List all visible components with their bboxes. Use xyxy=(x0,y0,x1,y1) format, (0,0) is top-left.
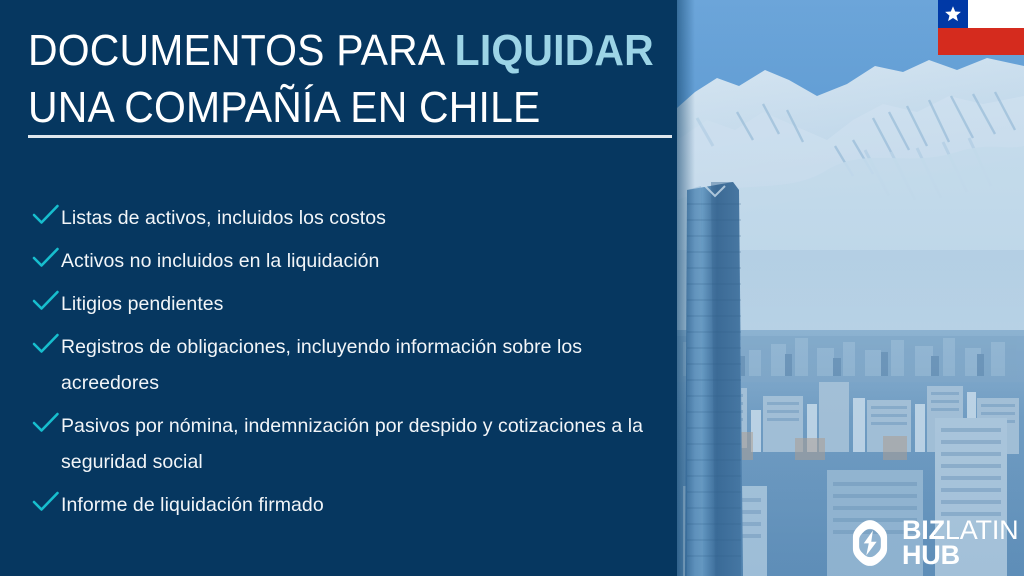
check-icon xyxy=(31,202,61,228)
check-icon xyxy=(31,331,61,357)
bizlatinhub-logo: BIZLATIN HUB xyxy=(845,514,1015,572)
list-item-label: Litigios pendientes xyxy=(61,286,651,322)
list-item: Registros de obligaciones, incluyendo in… xyxy=(31,329,651,401)
list-item: Activos no incluidos en la liquidación xyxy=(31,243,651,279)
flag-red-band xyxy=(938,28,1024,56)
title-prefix: DOCUMENTOS PARA xyxy=(28,26,455,75)
list-item: Listas de activos, incluidos los costos xyxy=(31,200,651,236)
list-item-label: Informe de liquidación firmado xyxy=(61,487,651,523)
list-item-label: Pasivos por nómina, indemnización por de… xyxy=(61,408,651,480)
check-icon xyxy=(31,410,61,436)
check-icon xyxy=(31,489,61,515)
list-item: Litigios pendientes xyxy=(31,286,651,322)
santiago-chile-skyline-photo xyxy=(677,0,1024,576)
content-panel: DOCUMENTOS PARA LIQUIDAR UNA COMPAÑÍA EN… xyxy=(0,0,677,576)
title-underline-rule xyxy=(28,135,672,138)
title-line-1: DOCUMENTOS PARA LIQUIDAR xyxy=(28,22,628,79)
logo-wordmark: BIZLATIN HUB xyxy=(902,518,1018,568)
logo-line-2: HUB xyxy=(902,543,1018,568)
documents-checklist: Listas de activos, incluidos los costos … xyxy=(31,200,651,530)
bizlatinhub-hexagon-icon xyxy=(845,518,895,568)
list-item: Pasivos por nómina, indemnización por de… xyxy=(31,408,651,480)
page-title: DOCUMENTOS PARA LIQUIDAR UNA COMPAÑÍA EN… xyxy=(28,22,673,136)
title-line-2: UNA COMPAÑÍA EN CHILE xyxy=(28,79,628,136)
list-item-label: Registros de obligaciones, incluyendo in… xyxy=(61,329,651,401)
check-icon xyxy=(31,288,61,314)
star-icon xyxy=(944,5,962,23)
list-item-label: Activos no incluidos en la liquidación xyxy=(61,243,651,279)
chile-flag xyxy=(938,0,1024,55)
slide-root: DOCUMENTOS PARA LIQUIDAR UNA COMPAÑÍA EN… xyxy=(0,0,1024,576)
list-item: Informe de liquidación firmado xyxy=(31,487,651,523)
list-item-label: Listas de activos, incluidos los costos xyxy=(61,200,651,236)
title-accent-word: LIQUIDAR xyxy=(455,26,654,75)
flag-star-wrap xyxy=(938,0,968,28)
check-icon xyxy=(31,245,61,271)
